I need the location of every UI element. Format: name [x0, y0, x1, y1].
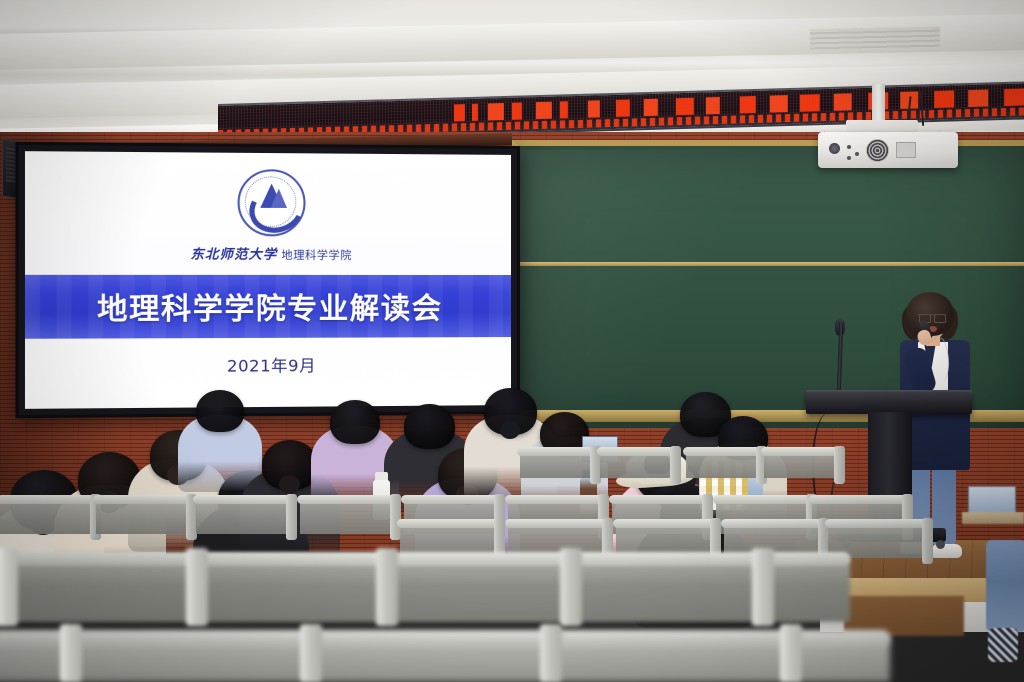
slide-title-band: 地理科学学院专业解读会 — [25, 275, 511, 339]
denim-jacket — [986, 540, 1024, 632]
projector-indicator — [855, 152, 859, 156]
presenter-shoe — [930, 544, 962, 558]
bench-post — [540, 624, 562, 682]
bench-post — [186, 548, 208, 626]
presentation-slide: 东北师范大学地理科学学院 地理科学学院专业解读会 2021年9月 — [25, 151, 511, 409]
seat-rail — [193, 495, 295, 504]
seat-rail — [401, 495, 503, 504]
student-head — [404, 404, 455, 449]
seat-back[interactable] — [0, 500, 96, 534]
student-head — [330, 400, 380, 444]
bench-post — [560, 548, 582, 626]
ceiling-vent — [810, 27, 940, 52]
sneaker — [988, 628, 1018, 662]
emblem-mountain-secondary-icon — [271, 189, 287, 208]
seat-rail — [683, 447, 765, 456]
seat-rail — [597, 447, 679, 456]
seat-rail — [505, 495, 607, 504]
seat-rail — [397, 519, 503, 528]
foreground-bench-rail — [0, 630, 890, 646]
bench-post — [0, 548, 18, 626]
projection-screen: 东北师范大学地理科学学院 地理科学学院专业解读会 2021年9月 — [15, 142, 520, 418]
bench-post — [60, 624, 82, 682]
bench-post — [752, 548, 774, 626]
projector-indicator — [847, 145, 851, 149]
bench-post — [300, 624, 322, 682]
seat-rail — [93, 495, 195, 504]
projector-lens-icon — [829, 143, 840, 154]
seat-rail — [613, 519, 719, 528]
projector-fan-grill-icon — [866, 139, 889, 162]
slide-department-name: 地理科学学院 — [281, 249, 352, 262]
seat-rail — [761, 447, 843, 456]
seat-rail — [809, 495, 911, 504]
slide-university-name: 东北师范大学 — [190, 247, 277, 262]
slide-organization-line: 东北师范大学地理科学学院 — [190, 243, 352, 263]
seat-post — [834, 446, 845, 484]
seat-back[interactable] — [196, 500, 292, 534]
projector-port-panel — [896, 142, 916, 158]
bench-post — [780, 624, 802, 682]
seat-rail — [297, 495, 399, 504]
lecture-hall-photo: 东北师范大学地理科学学院 地理科学学院专业解读会 2021年9月 — [0, 0, 1024, 682]
seat-post — [286, 494, 297, 540]
bench-post — [376, 548, 398, 626]
seat-back[interactable] — [300, 500, 396, 534]
seat-back[interactable] — [96, 500, 192, 534]
student-head — [196, 390, 244, 432]
seat-post — [670, 446, 681, 484]
seat-rail — [825, 519, 931, 528]
seat-post — [922, 518, 933, 564]
slide-logo-block: 东北师范大学地理科学学院 — [25, 168, 511, 263]
seat-rail — [505, 519, 611, 528]
lectern-caster — [936, 540, 945, 549]
chalkboard-divider-rail — [512, 262, 1024, 266]
seat-rail — [0, 495, 99, 504]
foreground-bench-rail — [0, 552, 850, 566]
desk-surface — [962, 512, 1024, 524]
projector-indicator — [847, 156, 851, 160]
seat-rail — [721, 519, 827, 528]
nenu-geography-emblem-icon — [238, 169, 306, 236]
slide-title: 地理科学学院专业解读会 — [97, 285, 442, 328]
seat-rail — [517, 447, 599, 456]
seat-rail — [609, 495, 711, 504]
slide-date: 2021年9月 — [25, 351, 511, 378]
seat-rail — [713, 495, 815, 504]
lectern-top — [806, 392, 972, 414]
